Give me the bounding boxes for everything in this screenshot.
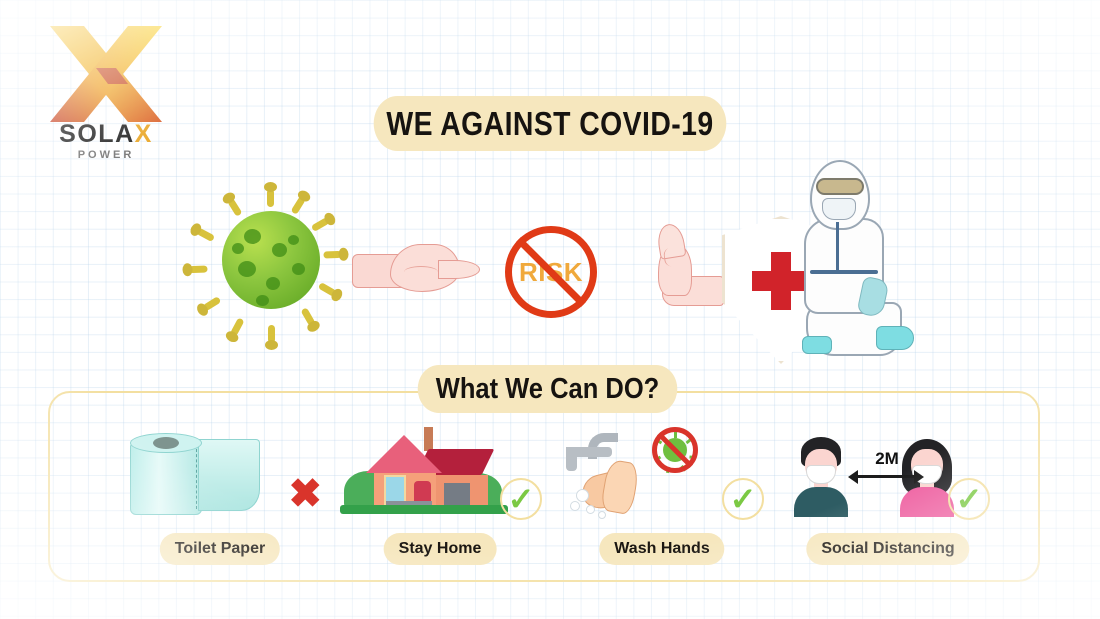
advice-item-toilet-paper: ✖ Toilet Paper (110, 425, 330, 565)
worker-goggles (816, 178, 864, 195)
check-mark-icon: ✓ (948, 478, 990, 520)
virus-spot (256, 295, 269, 306)
virus-spike (267, 189, 274, 207)
virus-spike (318, 282, 337, 297)
toilet-paper-roll-icon: ✖ (110, 425, 330, 520)
virus-spike (291, 196, 306, 215)
worker-suit-strap (836, 222, 839, 274)
open-palm-hand-icon (352, 238, 477, 304)
virus-spot (232, 243, 244, 254)
worker-boot (802, 336, 832, 354)
no-risk-sign-icon: RISK (505, 226, 597, 318)
virus-spike (230, 317, 245, 336)
worker-suit-belt (810, 270, 878, 274)
worker-boot (876, 326, 914, 350)
stop-hand-icon (648, 224, 724, 316)
washing-hands-icon: ✓ (552, 425, 772, 520)
section-subtitle: What We Can DO? (418, 365, 678, 413)
worker-face-mask (822, 198, 856, 220)
two-people-masked-icon: 2M ✓ (778, 425, 998, 520)
virus-spike (268, 325, 275, 343)
virus-spot (244, 229, 261, 244)
person-male (790, 437, 852, 515)
hand-fingers (438, 260, 480, 279)
advice-label-wash-hands: Wash Hands (599, 533, 724, 565)
no-virus-icon (652, 427, 698, 473)
virus-spike (189, 266, 207, 274)
advice-item-stay-home: ✓ Stay Home (330, 425, 550, 565)
virus-spike (196, 227, 215, 242)
virus-spot (238, 261, 256, 277)
logo-subtext: POWER (36, 150, 176, 161)
solax-power-logo: SOLAX POWER (36, 22, 176, 162)
virus-spot (292, 263, 305, 275)
virus-spot (272, 243, 287, 257)
check-mark-icon: ✓ (500, 478, 542, 520)
virus-spot (288, 235, 299, 245)
advice-item-wash-hands: ✓ Wash Hands (552, 425, 772, 565)
face-mask (806, 465, 836, 484)
virus-spike (311, 217, 330, 232)
advice-item-social-distancing: 2M ✓ Social Distancing (778, 425, 998, 565)
advice-label-stay-home: Stay Home (384, 533, 497, 565)
virus-spike (227, 198, 242, 217)
coronavirus-icon (196, 185, 346, 335)
virus-spike (202, 296, 221, 311)
virus-spike (300, 307, 315, 326)
medical-worker-ppe-icon (776, 160, 916, 370)
logo-wordmark: SOLAX (36, 122, 176, 147)
distance-label: 2M (862, 449, 912, 469)
virus-body (222, 211, 320, 309)
poster-canvas: SOLAX POWER WE AGAINST COVID-19 (0, 0, 1100, 619)
virus-spot (266, 277, 280, 290)
hand-crease (404, 266, 438, 278)
virus-spike (323, 251, 341, 259)
distance-arrow (856, 475, 916, 478)
advice-label-toilet-paper: Toilet Paper (160, 533, 280, 565)
house-icon: ✓ (330, 425, 550, 520)
solax-x-mark-icon (36, 22, 176, 126)
hand-upper (600, 459, 641, 516)
page-title: WE AGAINST COVID-19 (374, 96, 727, 151)
advice-label-social-distancing: Social Distancing (806, 533, 969, 565)
cross-mark-icon: ✖ (288, 474, 322, 514)
check-mark-icon: ✓ (722, 478, 764, 520)
